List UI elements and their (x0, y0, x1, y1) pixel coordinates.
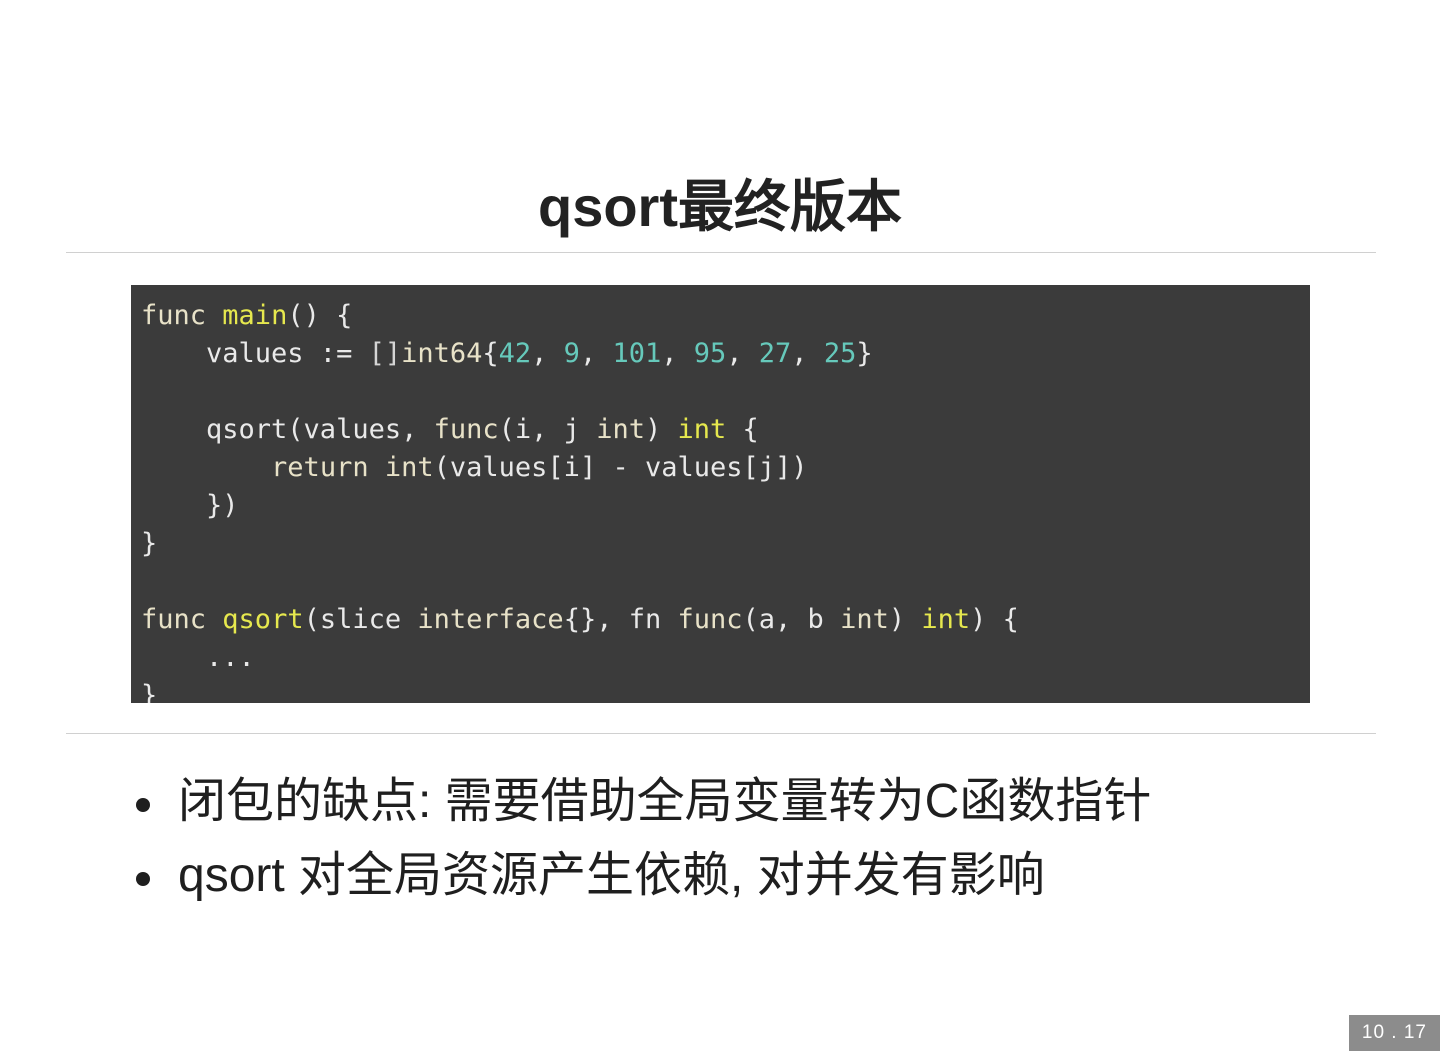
code-token: ) (889, 604, 922, 635)
divider-top (66, 252, 1376, 253)
code-token: func (434, 414, 499, 445)
code-token: func (141, 604, 206, 635)
code-token: int (677, 414, 726, 445)
code-token: , (791, 338, 824, 369)
code-token: interface (417, 604, 563, 635)
code-line (141, 373, 1310, 411)
code-content: func main() { values := []int64{42, 9, 1… (141, 297, 1310, 703)
list-item-label: 闭包的缺点: 需要借助全局变量转为C函数指针 (178, 775, 1151, 828)
code-token: , (580, 338, 613, 369)
code-token: } (141, 680, 157, 703)
code-token: 25 (824, 338, 857, 369)
code-block: func main() { values := []int64{42, 9, 1… (131, 285, 1310, 703)
code-token: () { (287, 300, 352, 331)
code-token: int (596, 414, 645, 445)
page-title: qsort最终版本 (0, 176, 1440, 238)
code-token: 101 (612, 338, 661, 369)
code-line: func qsort(slice interface{}, fn func(a,… (141, 601, 1310, 639)
code-token: int (840, 604, 889, 635)
code-token: values := (141, 338, 369, 369)
code-token: main (222, 300, 287, 331)
code-line (141, 563, 1310, 601)
code-token (206, 300, 222, 331)
list-item: qsort 对全局资源产生依赖, 对并发有影响 (120, 839, 1400, 913)
code-line: }) (141, 487, 1310, 525)
code-token: , (531, 338, 564, 369)
divider-bottom (66, 733, 1376, 734)
code-token: 95 (694, 338, 727, 369)
code-line: func main() { (141, 297, 1310, 335)
code-token (369, 452, 385, 483)
code-token: int (921, 604, 970, 635)
code-token: (a, b (743, 604, 841, 635)
code-token: { (482, 338, 498, 369)
code-token: (slice (304, 604, 418, 635)
code-line: values := []int64{42, 9, 101, 95, 27, 25… (141, 335, 1310, 373)
code-line: } (141, 525, 1310, 563)
code-line: qsort(values, func(i, j int) int { (141, 411, 1310, 449)
code-token: [] (369, 338, 402, 369)
slide-root: qsort最终版本 func main() { values := []int6… (0, 0, 1440, 1051)
code-token: qsort(values, (141, 414, 434, 445)
code-token: {}, fn (564, 604, 678, 635)
code-token: int (385, 452, 434, 483)
code-line: return int(values[i] - values[j]) (141, 449, 1310, 487)
code-token: } (141, 528, 157, 559)
code-token: func (677, 604, 742, 635)
code-token: func (141, 300, 206, 331)
code-line: } (141, 677, 1310, 703)
bullet-list: 闭包的缺点: 需要借助全局变量转为C函数指针qsort 对全局资源产生依赖, 对… (120, 765, 1400, 913)
code-token (141, 452, 271, 483)
code-token: } (856, 338, 872, 369)
code-token: ... (141, 642, 255, 673)
code-token: }) (141, 490, 239, 521)
list-item: 闭包的缺点: 需要借助全局变量转为C函数指针 (120, 765, 1400, 839)
code-token: 9 (564, 338, 580, 369)
list-item-label: qsort 对全局资源产生依赖, 对并发有影响 (178, 849, 1045, 902)
code-token: (values[i] - values[j]) (434, 452, 808, 483)
code-token: ) (645, 414, 678, 445)
code-token: qsort (222, 604, 303, 635)
code-token: , (726, 338, 759, 369)
code-token: 27 (759, 338, 792, 369)
code-token: return (271, 452, 369, 483)
code-token: 42 (499, 338, 532, 369)
code-line: ... (141, 639, 1310, 677)
code-token: ) { (970, 604, 1019, 635)
code-token: int64 (401, 338, 482, 369)
code-token (206, 604, 222, 635)
code-token: (i, j (499, 414, 597, 445)
code-token: { (726, 414, 759, 445)
code-token: , (661, 338, 694, 369)
page-number-badge: 10 . 17 (1349, 1015, 1440, 1051)
